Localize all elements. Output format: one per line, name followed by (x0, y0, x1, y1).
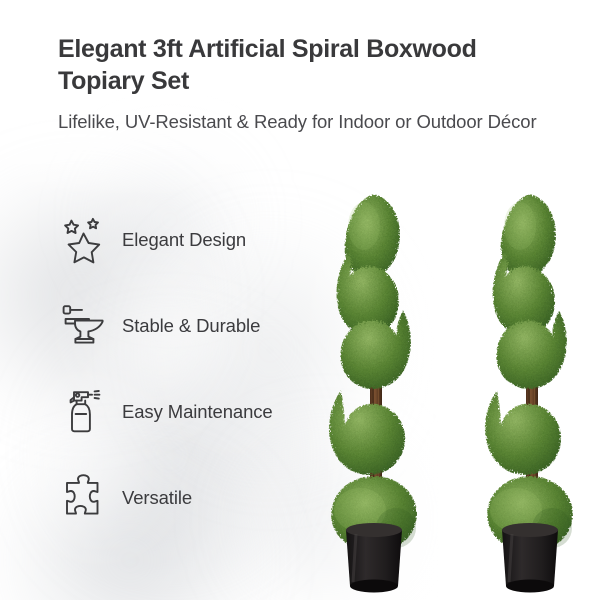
page-subtitle: Lifelike, UV-Resistant & Ready for Indoo… (58, 109, 548, 134)
feature-label: Versatile (122, 487, 192, 509)
page-title: Elegant 3ft Artificial Spiral Boxwood To… (58, 34, 558, 97)
feature-label: Elegant Design (122, 229, 246, 251)
stars-icon (58, 214, 110, 266)
puzzle-piece-icon (58, 472, 110, 524)
product-image-group (296, 178, 600, 600)
spiral-boxwood-topiary (464, 178, 596, 600)
feature-label: Stable & Durable (122, 315, 260, 337)
feature-item-easy-maintenance: Easy Maintenance (58, 377, 323, 447)
spray-bottle-icon (58, 386, 110, 438)
product-infographic: Elegant 3ft Artificial Spiral Boxwood To… (0, 0, 600, 600)
header: Elegant 3ft Artificial Spiral Boxwood To… (58, 34, 558, 134)
feature-item-elegant-design: Elegant Design (58, 205, 323, 275)
anvil-hammer-icon (58, 300, 110, 352)
feature-item-versatile: Versatile (58, 463, 323, 533)
spiral-boxwood-topiary (308, 178, 440, 600)
feature-label: Easy Maintenance (122, 401, 273, 423)
feature-list: Elegant Design Stable & Durable (58, 205, 323, 533)
feature-item-stable-durable: Stable & Durable (58, 291, 323, 361)
